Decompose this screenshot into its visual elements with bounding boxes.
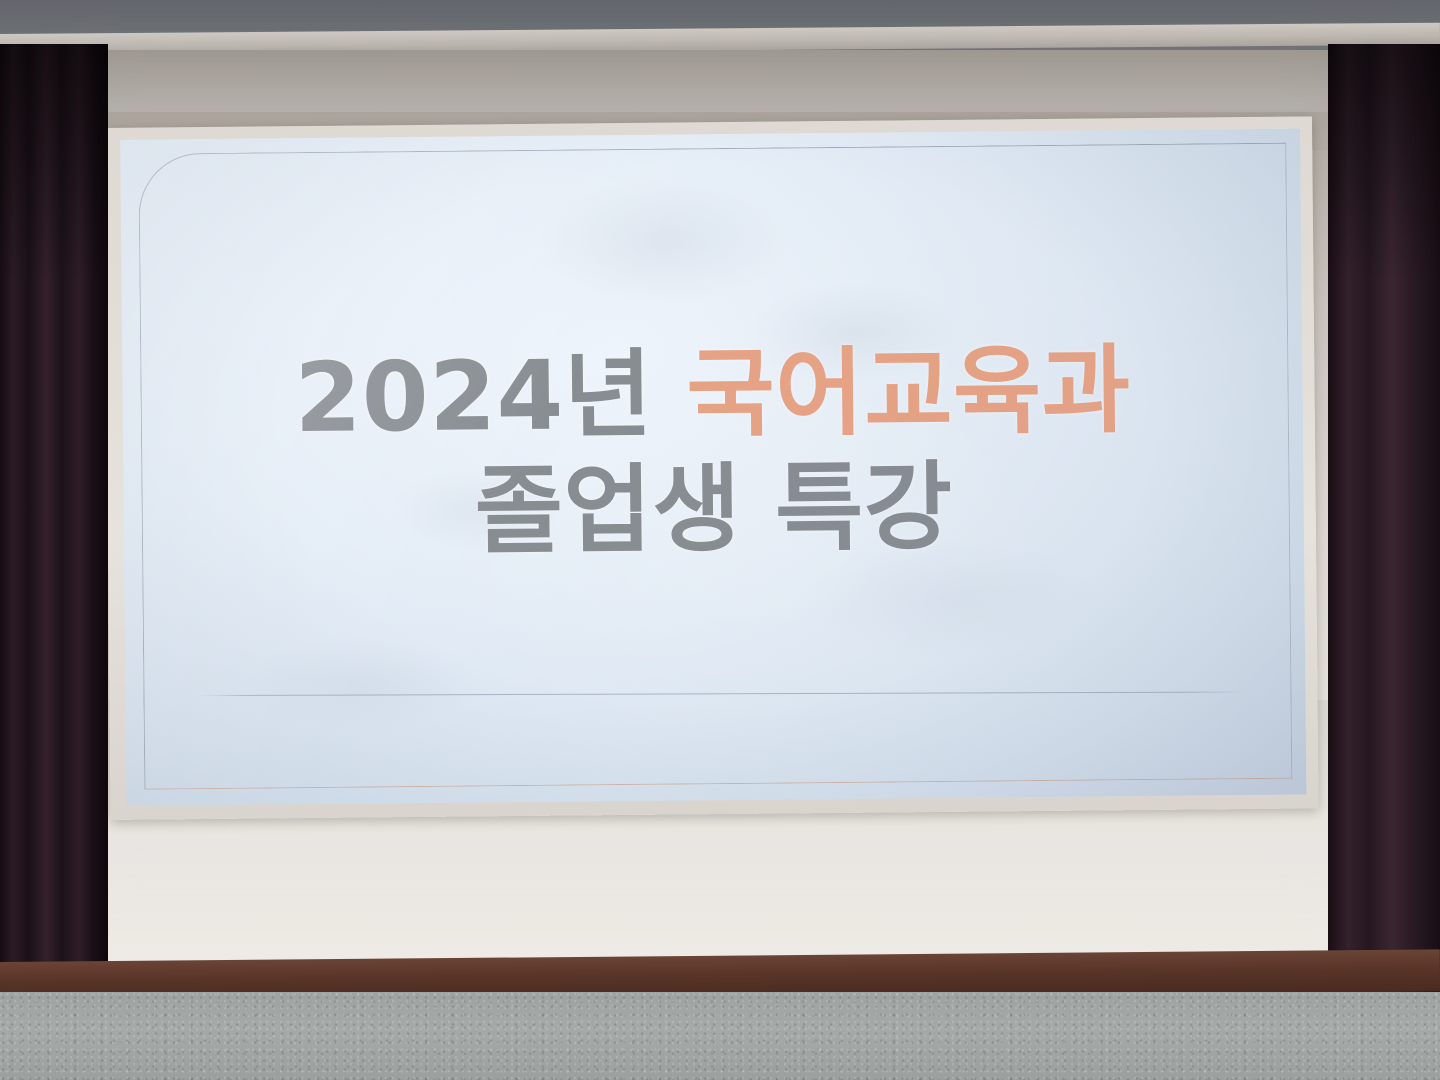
projector-room-scene: 2024년 국어교육과 졸업생 특강 [0, 0, 1440, 1080]
curtain-right [1328, 44, 1440, 992]
presentation-slide: 2024년 국어교육과 졸업생 특강 [120, 129, 1306, 806]
slide-title-line-2: 졸업생 특강 [123, 450, 1304, 571]
curtain-left-top-shadow [0, 44, 108, 284]
carpet-floor [0, 992, 1440, 1080]
title-subject-text: 졸업생 특강 [474, 451, 953, 568]
title-department-text: 국어교육과 [686, 334, 1131, 450]
projection-screen: 2024년 국어교육과 졸업생 특강 [104, 116, 1319, 820]
curtain-left [0, 44, 108, 994]
slide-divider-rule [199, 691, 1247, 696]
title-year-text: 2024년 [294, 338, 687, 454]
slide-title-block: 2024년 국어교육과 졸업생 특강 [122, 335, 1304, 571]
curtain-right-top-shadow [1328, 44, 1440, 284]
slide-vignette [120, 129, 1306, 806]
slide-projection-texture [120, 129, 1306, 806]
slide-title-line-1: 2024년 국어교육과 [122, 335, 1303, 456]
